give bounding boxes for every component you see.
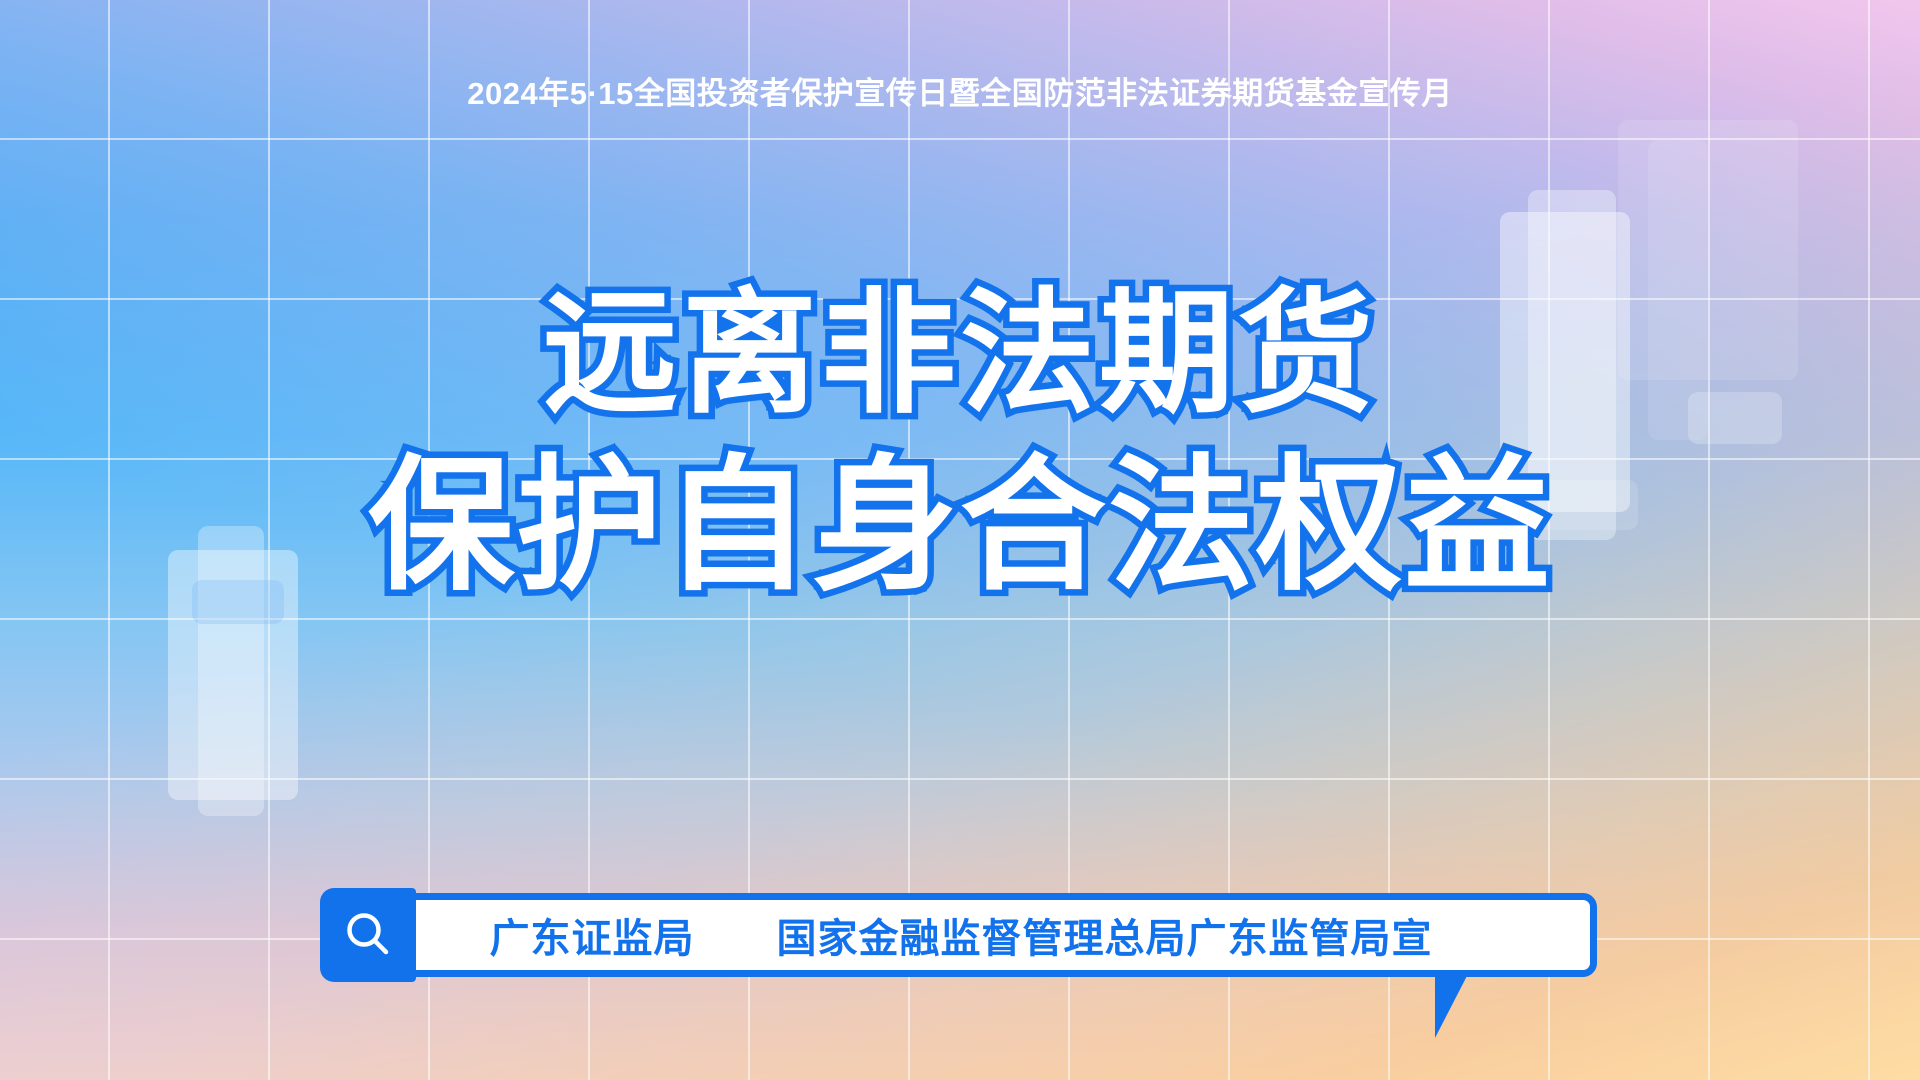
headline-line-2: 保护自身合法权益 bbox=[0, 437, 1920, 615]
headline-block: 远离非法期货 保护自身合法权益 bbox=[0, 272, 1920, 615]
investor-protection-poster: 2024年5·15全国投资者保护宣传日暨全国防范非法证券期货基金宣传月 远离非法… bbox=[0, 0, 1920, 1080]
footer-bar: 广东证监局 国家金融监督管理总局广东监管局宣 bbox=[325, 893, 1597, 977]
campaign-header-text: 2024年5·15全国投资者保护宣传日暨全国防范非法证券期货基金宣传月 bbox=[0, 68, 1920, 113]
speech-bubble-tail bbox=[1435, 972, 1469, 1038]
headline-line-1: 远离非法期货 bbox=[0, 272, 1920, 437]
footer-organizations-text: 广东证监局 国家金融监督管理总局广东监管局宣 bbox=[332, 906, 1590, 964]
footer-banner: 广东证监局 国家金融监督管理总局广东监管局宣 bbox=[325, 893, 1597, 977]
search-icon bbox=[320, 888, 416, 982]
